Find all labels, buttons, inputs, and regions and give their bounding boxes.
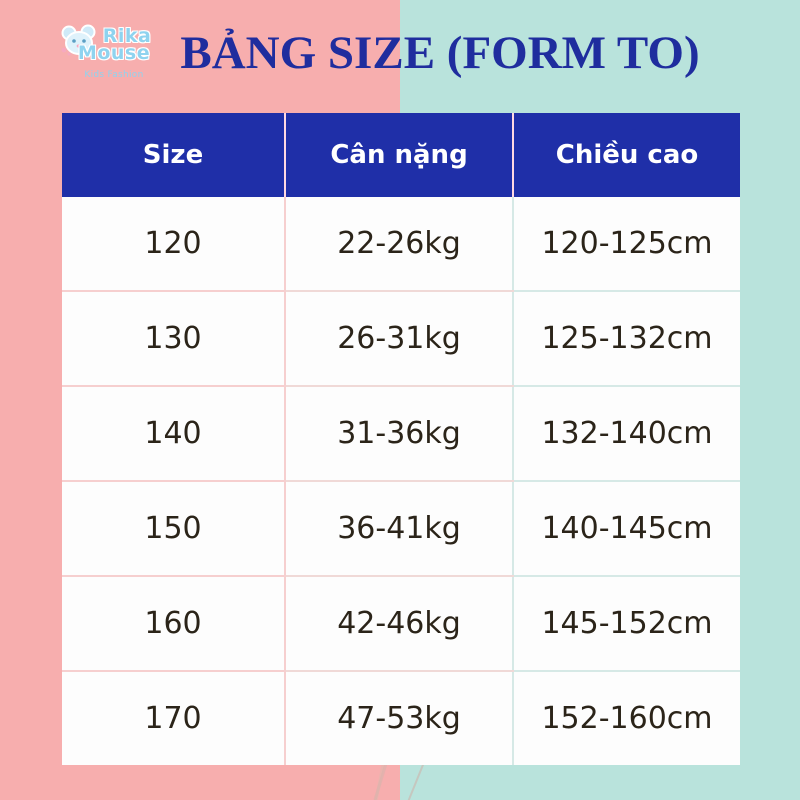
cell-weight: 42-46kg	[285, 576, 513, 671]
cell-size: 130	[62, 291, 285, 386]
size-table-wrapper: Size Cân nặng Chiều cao 120 22-26kg 120-…	[62, 113, 740, 755]
cell-size: 170	[62, 671, 285, 765]
cell-height: 120-125cm	[513, 197, 740, 291]
brand-name: Rika Mouse	[58, 28, 170, 62]
table-row: 140 31-36kg 132-140cm	[62, 386, 740, 481]
brand-logo: Rika Mouse Kids Fashion	[58, 22, 170, 88]
cell-size: 140	[62, 386, 285, 481]
cell-weight: 26-31kg	[285, 291, 513, 386]
cell-height: 132-140cm	[513, 386, 740, 481]
table-row: 170 47-53kg 152-160cm	[62, 671, 740, 765]
cell-height: 152-160cm	[513, 671, 740, 765]
size-table: Size Cân nặng Chiều cao 120 22-26kg 120-…	[62, 113, 740, 765]
column-header-weight: Cân nặng	[285, 113, 513, 197]
cell-height: 145-152cm	[513, 576, 740, 671]
cell-weight: 22-26kg	[285, 197, 513, 291]
column-header-height: Chiều cao	[513, 113, 740, 197]
cell-size: 120	[62, 197, 285, 291]
table-body: 120 22-26kg 120-125cm 130 26-31kg 125-13…	[62, 197, 740, 765]
brand-name-line2: Mouse	[58, 45, 170, 62]
size-chart-canvas: Rika Mouse Kids Fashion BẢNG SIZE (FORM …	[0, 0, 800, 800]
cell-size: 150	[62, 481, 285, 576]
table-header-row: Size Cân nặng Chiều cao	[62, 113, 740, 197]
column-header-size: Size	[62, 113, 285, 197]
cell-height: 140-145cm	[513, 481, 740, 576]
table-row: 160 42-46kg 145-152cm	[62, 576, 740, 671]
table-row: 120 22-26kg 120-125cm	[62, 197, 740, 291]
table-head: Size Cân nặng Chiều cao	[62, 113, 740, 197]
cell-weight: 31-36kg	[285, 386, 513, 481]
cell-size: 160	[62, 576, 285, 671]
page-title: BẢNG SIZE (FORM TO)	[180, 22, 700, 84]
table-row: 130 26-31kg 125-132cm	[62, 291, 740, 386]
cell-weight: 36-41kg	[285, 481, 513, 576]
cell-weight: 47-53kg	[285, 671, 513, 765]
brand-tagline: Kids Fashion	[58, 70, 170, 80]
cell-height: 125-132cm	[513, 291, 740, 386]
table-row: 150 36-41kg 140-145cm	[62, 481, 740, 576]
